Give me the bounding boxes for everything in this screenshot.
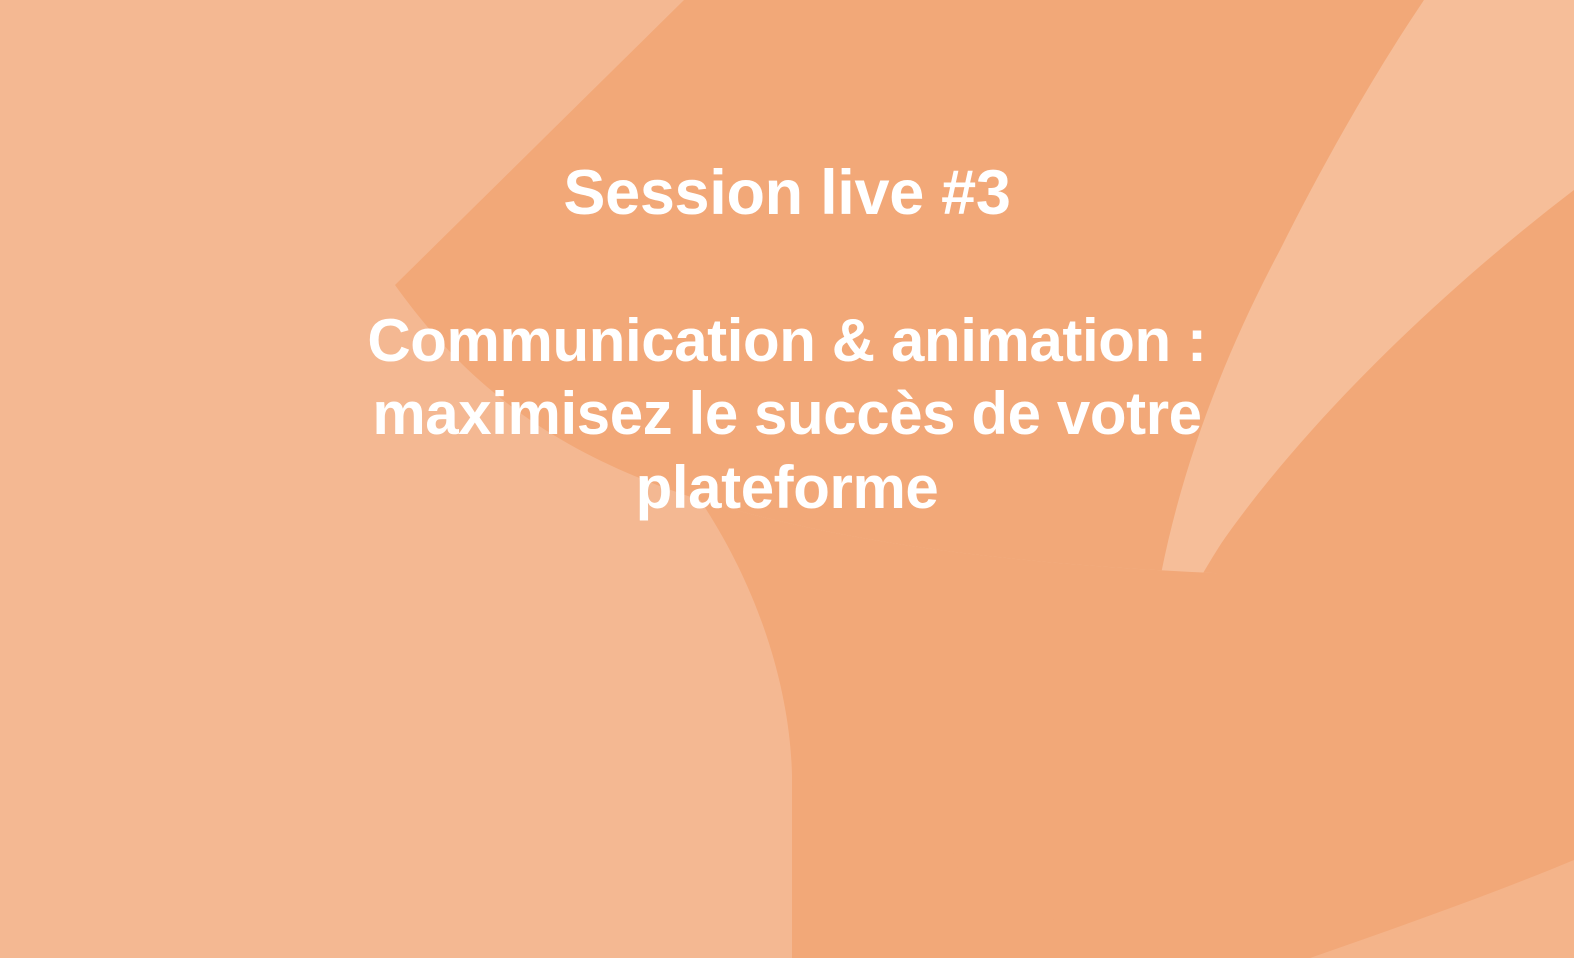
slide-subtitle: Communication & animation : maximisez le… — [180, 304, 1395, 524]
subtitle-line-2: maximisez le succès de votre — [180, 377, 1395, 450]
page-title: Session live #3 — [0, 160, 1574, 226]
subtitle-line-1: Communication & animation : — [180, 304, 1395, 377]
presentation-slide: Session live #3 Communication & animatio… — [0, 0, 1574, 958]
slide-content: Session live #3 Communication & animatio… — [0, 0, 1574, 958]
subtitle-line-3: plateforme — [180, 451, 1395, 524]
